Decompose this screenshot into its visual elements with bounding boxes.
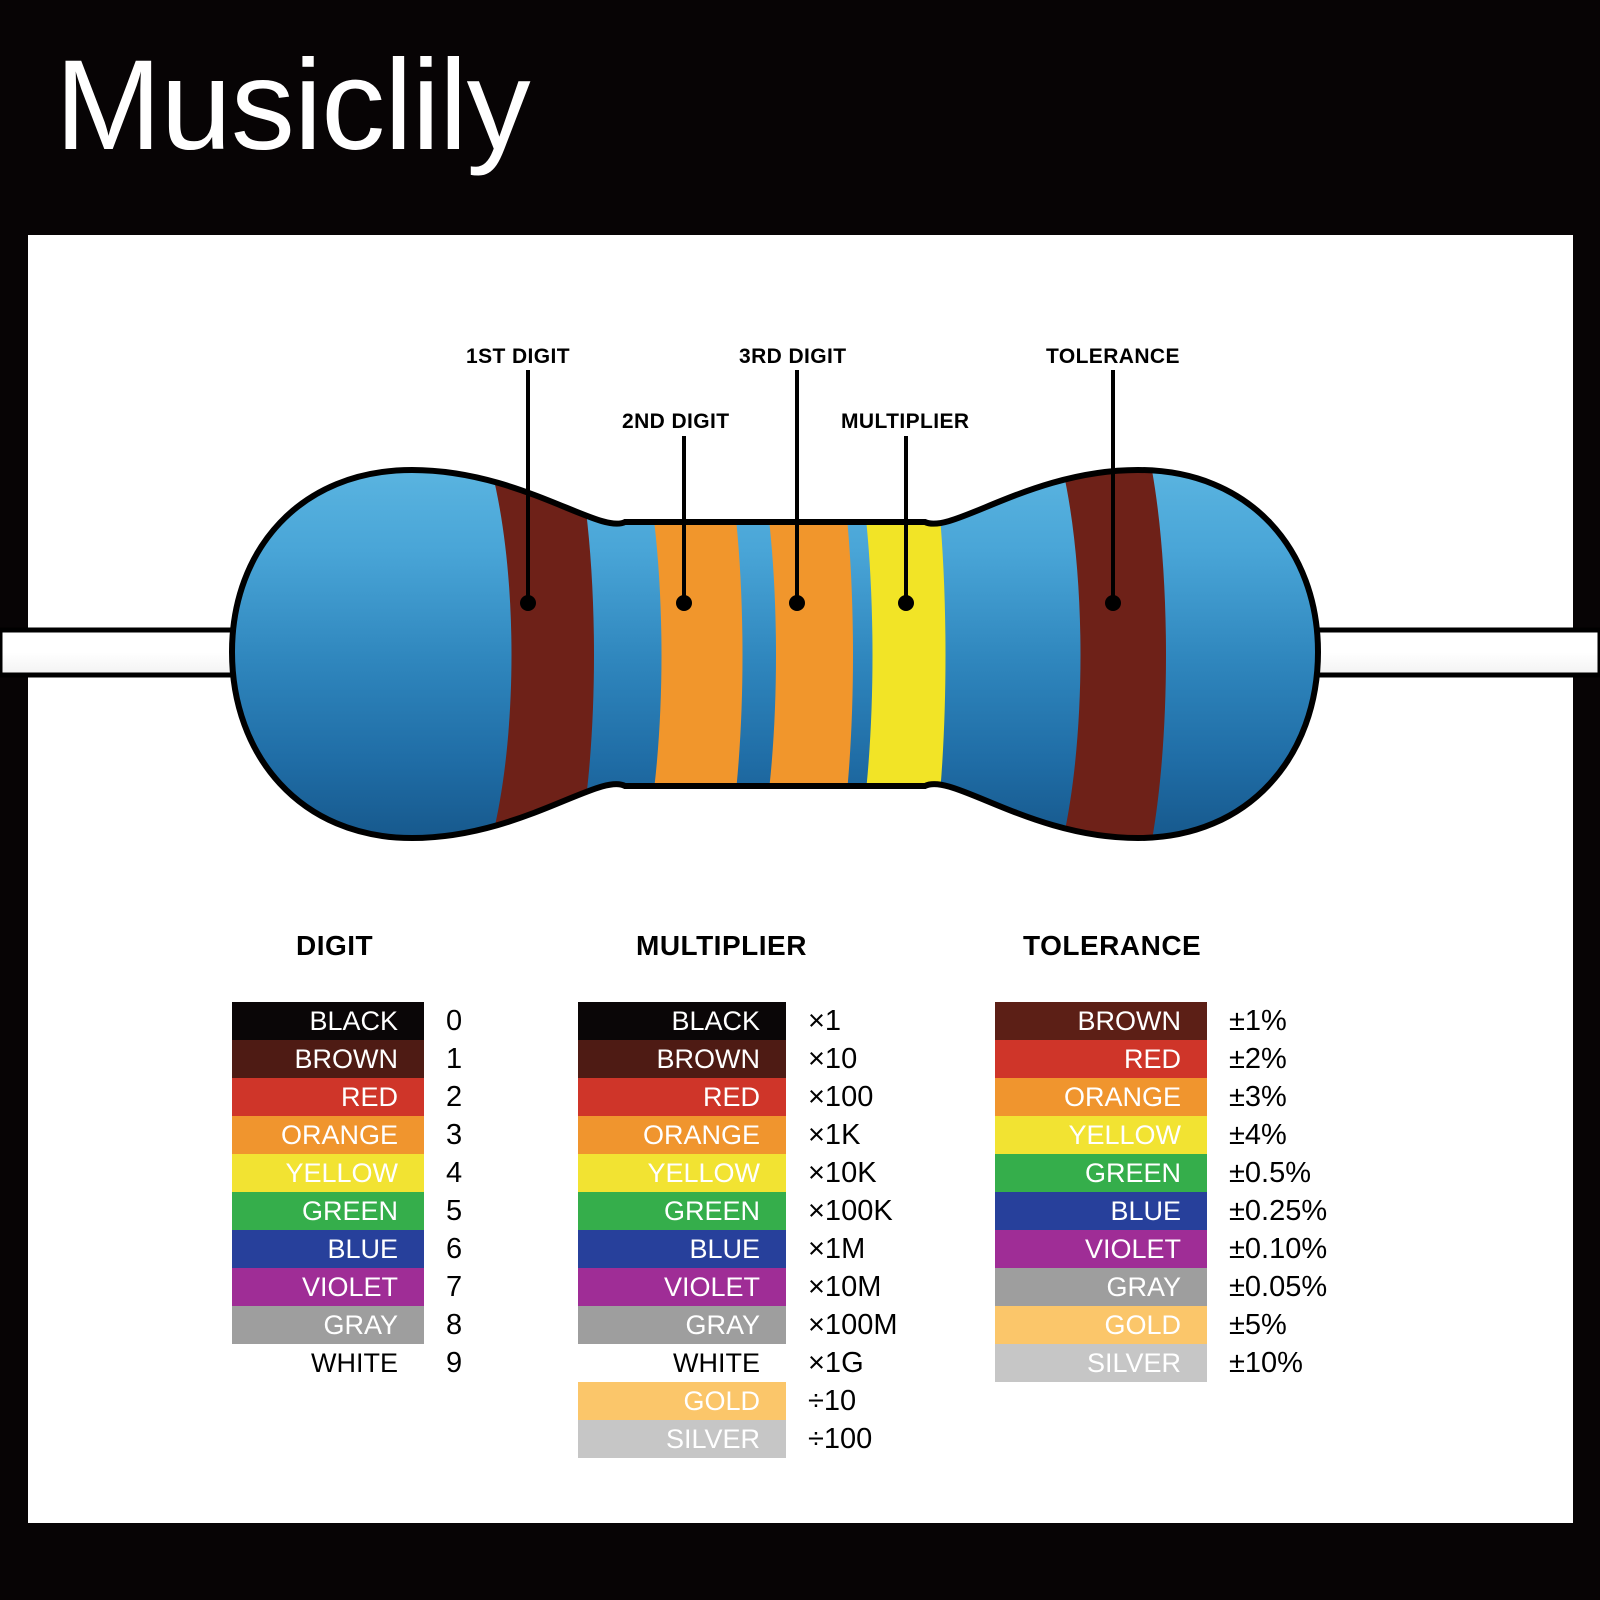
legend-value: 8	[424, 1306, 462, 1344]
legend-row: YELLOW4	[232, 1154, 462, 1192]
legend-row: GRAY±0.05%	[995, 1268, 1327, 1306]
color-swatch: SILVER	[578, 1420, 786, 1458]
legend-value: ±5%	[1207, 1306, 1287, 1344]
legend-value: 9	[424, 1344, 462, 1382]
color-swatch: VIOLET	[578, 1268, 786, 1306]
legend-row: SILVER±10%	[995, 1344, 1327, 1382]
legend-value: ×100M	[786, 1306, 897, 1344]
legend-row: WHITE9	[232, 1344, 462, 1382]
color-swatch: BLUE	[995, 1192, 1207, 1230]
legend-value: ±0.25%	[1207, 1192, 1327, 1230]
legend-row: GOLD÷10	[578, 1382, 897, 1420]
color-swatch: WHITE	[578, 1344, 786, 1382]
callout-label-1st-digit: 1ST DIGIT	[466, 345, 570, 369]
legend-rows-tolerance: BROWN±1%RED±2%ORANGE±3%YELLOW±4%GREEN±0.…	[995, 1002, 1327, 1382]
color-swatch: GREEN	[578, 1192, 786, 1230]
legend-row: ORANGE±3%	[995, 1078, 1327, 1116]
legend-value: 7	[424, 1268, 462, 1306]
legend-row: BLUE6	[232, 1230, 462, 1268]
legend-value: 1	[424, 1040, 462, 1078]
legend-row: BLUE×1M	[578, 1230, 897, 1268]
legend-row: ORANGE3	[232, 1116, 462, 1154]
color-swatch: RED	[995, 1040, 1207, 1078]
legend-value: 0	[424, 1002, 462, 1040]
color-swatch: GRAY	[995, 1268, 1207, 1306]
color-swatch: RED	[578, 1078, 786, 1116]
color-swatch: BLUE	[578, 1230, 786, 1268]
legend-value: ×1M	[786, 1230, 865, 1268]
legend-value: ±4%	[1207, 1116, 1287, 1154]
color-swatch: GOLD	[995, 1306, 1207, 1344]
legend-row: BROWN×10	[578, 1040, 897, 1078]
color-swatch: VIOLET	[995, 1230, 1207, 1268]
legend-value: ±0.5%	[1207, 1154, 1311, 1192]
legend-row: RED±2%	[995, 1040, 1327, 1078]
color-swatch: WHITE	[232, 1344, 424, 1382]
legend-row: GREEN×100K	[578, 1192, 897, 1230]
legend-row: SILVER÷100	[578, 1420, 897, 1458]
color-swatch: ORANGE	[578, 1116, 786, 1154]
legend-value: ×1G	[786, 1344, 864, 1382]
color-swatch: BROWN	[232, 1040, 424, 1078]
legend-row: BLACK0	[232, 1002, 462, 1040]
legend-value: 5	[424, 1192, 462, 1230]
resistor-lead-right	[1305, 630, 1600, 675]
legend-row: BLUE±0.25%	[995, 1192, 1327, 1230]
callout-label-3rd-digit: 3RD DIGIT	[739, 345, 846, 369]
color-swatch: GREEN	[995, 1154, 1207, 1192]
legend-value: ×1	[786, 1002, 841, 1040]
legend-rows-multiplier: BLACK×1BROWN×10RED×100ORANGE×1KYELLOW×10…	[578, 1002, 897, 1458]
color-swatch: BROWN	[995, 1002, 1207, 1040]
legend-value: ×1K	[786, 1116, 860, 1154]
color-swatch: ORANGE	[995, 1078, 1207, 1116]
color-swatch: RED	[232, 1078, 424, 1116]
color-swatch: ORANGE	[232, 1116, 424, 1154]
callout-label-multiplier: MULTIPLIER	[841, 410, 969, 434]
legend-row: RED2	[232, 1078, 462, 1116]
color-swatch: GOLD	[578, 1382, 786, 1420]
color-swatch: BLACK	[232, 1002, 424, 1040]
legend-row: GRAY×100M	[578, 1306, 897, 1344]
legend-row: WHITE×1G	[578, 1344, 897, 1382]
legend-value: 3	[424, 1116, 462, 1154]
legend-value: ×10K	[786, 1154, 877, 1192]
legend-title-tolerance: TOLERANCE	[1023, 930, 1201, 962]
legend-row: YELLOW×10K	[578, 1154, 897, 1192]
brand-logo: Musiclily	[55, 42, 530, 170]
callout-label-2nd-digit: 2ND DIGIT	[622, 410, 729, 434]
legend-row: VIOLET7	[232, 1268, 462, 1306]
legend-value: ±1%	[1207, 1002, 1287, 1040]
color-swatch: SILVER	[995, 1344, 1207, 1382]
legend-value: ×10M	[786, 1268, 881, 1306]
color-swatch: BLUE	[232, 1230, 424, 1268]
legend-row: ORANGE×1K	[578, 1116, 897, 1154]
color-swatch: GRAY	[578, 1306, 786, 1344]
legend-value: ×10	[786, 1040, 857, 1078]
color-swatch: BROWN	[578, 1040, 786, 1078]
legend-row: VIOLET×10M	[578, 1268, 897, 1306]
color-swatch: BLACK	[578, 1002, 786, 1040]
resistor-lead-left	[0, 630, 245, 675]
resistor-body	[232, 450, 1318, 860]
color-swatch: YELLOW	[995, 1116, 1207, 1154]
color-swatch: GREEN	[232, 1192, 424, 1230]
legend-title-digit: DIGIT	[296, 930, 373, 962]
legend-value: ±0.05%	[1207, 1268, 1327, 1306]
legend-row: BLACK×1	[578, 1002, 897, 1040]
legend-value: ±10%	[1207, 1344, 1303, 1382]
callout-label-tolerance: TOLERANCE	[1046, 345, 1180, 369]
resistor-diagram	[0, 300, 1600, 920]
color-swatch: YELLOW	[232, 1154, 424, 1192]
legend-value: 6	[424, 1230, 462, 1268]
legend-value: ÷10	[786, 1382, 856, 1420]
legend-rows-digit: BLACK0BROWN1RED2ORANGE3YELLOW4GREEN5BLUE…	[232, 1002, 462, 1382]
color-swatch: YELLOW	[578, 1154, 786, 1192]
legend-value: ±2%	[1207, 1040, 1287, 1078]
legend-row: RED×100	[578, 1078, 897, 1116]
legend-title-multiplier: MULTIPLIER	[636, 930, 807, 962]
legend-row: GREEN±0.5%	[995, 1154, 1327, 1192]
legend-value: 2	[424, 1078, 462, 1116]
legend-value: ÷100	[786, 1420, 872, 1458]
legend-value: ±3%	[1207, 1078, 1287, 1116]
legend-row: BROWN±1%	[995, 1002, 1327, 1040]
legend-value: 4	[424, 1154, 462, 1192]
legend-row: GRAY8	[232, 1306, 462, 1344]
color-swatch: GRAY	[232, 1306, 424, 1344]
legend-row: GOLD±5%	[995, 1306, 1327, 1344]
legend-value: ×100	[786, 1078, 873, 1116]
legend-value: ±0.10%	[1207, 1230, 1327, 1268]
color-swatch: VIOLET	[232, 1268, 424, 1306]
legend-row: BROWN1	[232, 1040, 462, 1078]
legend-value: ×100K	[786, 1192, 893, 1230]
legend-row: VIOLET±0.10%	[995, 1230, 1327, 1268]
legend-row: GREEN5	[232, 1192, 462, 1230]
legend-row: YELLOW±4%	[995, 1116, 1327, 1154]
